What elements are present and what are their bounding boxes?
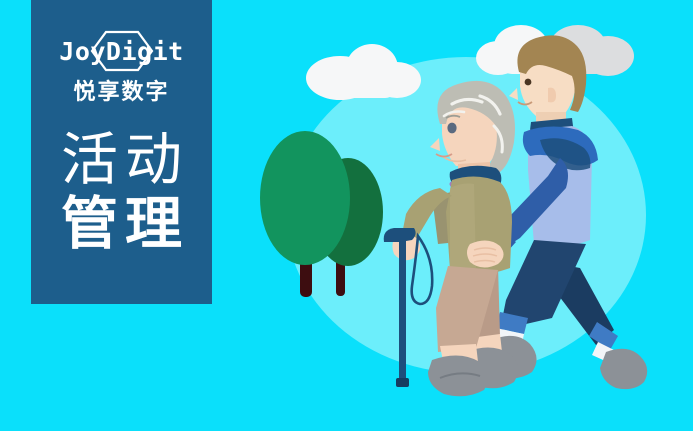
- cane-tip: [396, 378, 409, 387]
- logo-block: JoyDigit 悦享数字: [31, 30, 212, 103]
- headline-line-2: 管理: [54, 193, 189, 257]
- headline-line-1: 活动: [54, 129, 189, 193]
- cane-shaft: [399, 238, 406, 386]
- logo-wordmark: JoyDigit: [59, 39, 183, 64]
- woman-eye: [447, 123, 456, 134]
- man-eye: [525, 79, 532, 86]
- headline: 活动 管理: [31, 129, 212, 257]
- logo-chinese-name: 悦享数字: [73, 81, 169, 103]
- cane-handle: [384, 228, 416, 242]
- activity-management-banner: JoyDigit 悦享数字 活动 管理: [0, 0, 693, 431]
- logo-mark: JoyDigit: [47, 30, 197, 72]
- title-panel: JoyDigit 悦享数字 活动 管理: [31, 0, 212, 304]
